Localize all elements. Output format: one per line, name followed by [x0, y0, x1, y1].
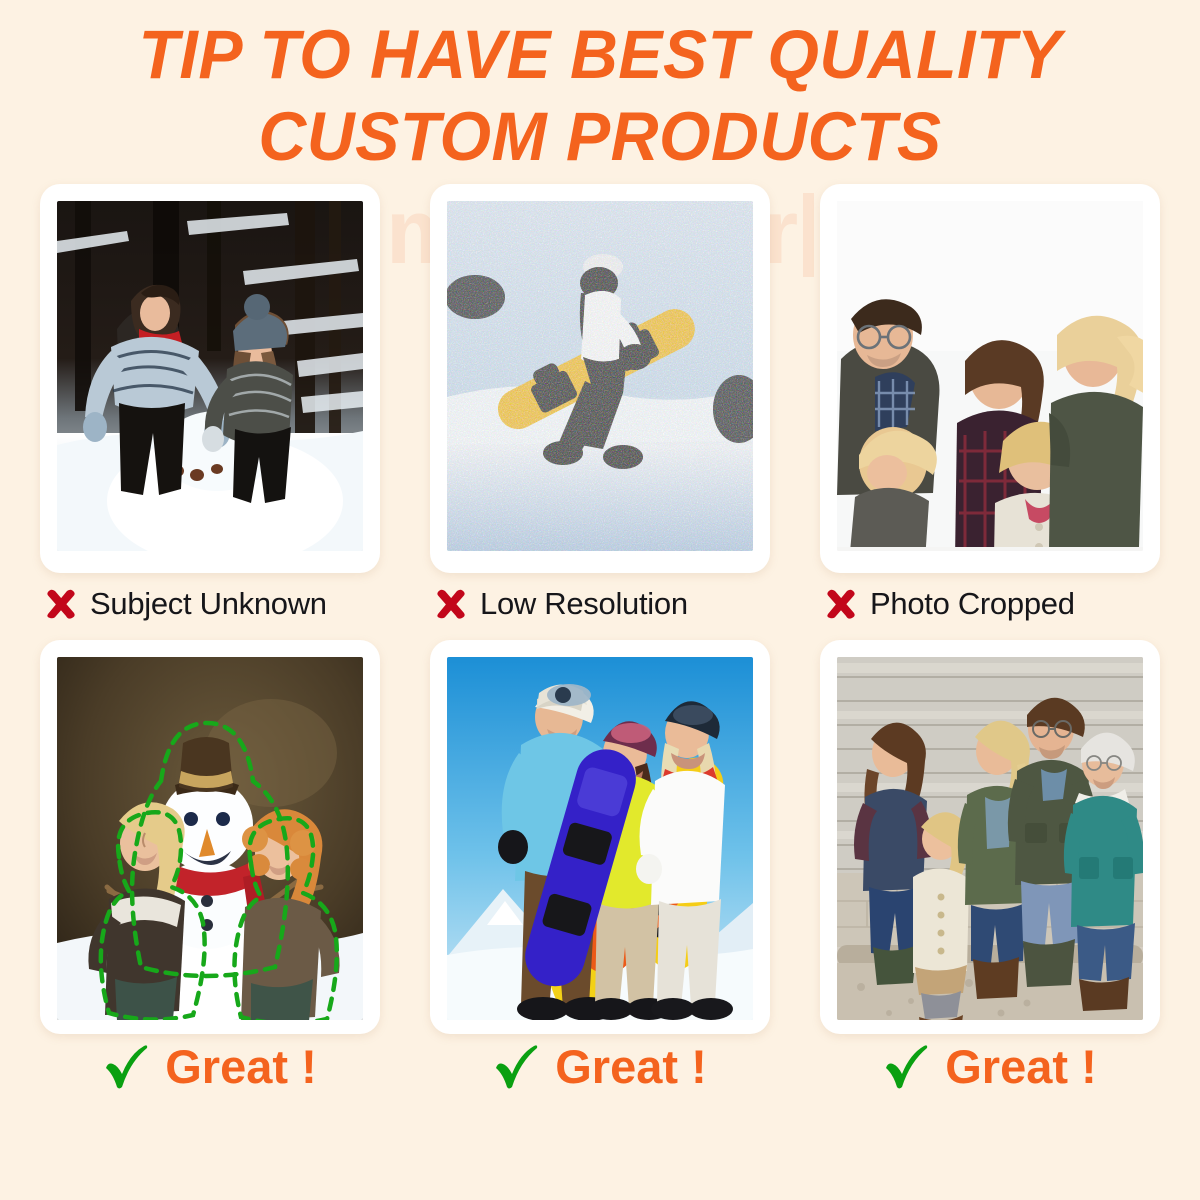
example-cell-photo-cropped: Photo Cropped: [820, 184, 1160, 622]
red-cross-icon: [434, 587, 468, 621]
example-cell-subject-unknown: Subject Unknown: [40, 184, 380, 622]
photo-card: [820, 184, 1160, 573]
example-label-text: Low Resolution: [480, 586, 688, 622]
example-label-great-snowman: Great !: [40, 1034, 380, 1092]
photo-three-snowboarders-on-sunny-mountain: [447, 657, 753, 1020]
example-label-text: Photo Cropped: [870, 586, 1075, 622]
page-title-line-2: CUSTOM PRODUCTS: [24, 104, 1176, 170]
bad-examples-row: Subject Unknown: [40, 184, 1160, 622]
page-title: TIP TO HAVE BEST QUALITY CUSTOM PRODUCTS: [24, 0, 1176, 169]
example-label-text: Great !: [945, 1043, 1097, 1090]
example-label-text: Subject Unknown: [90, 586, 327, 622]
example-cell-great-snowman: Great !: [40, 640, 380, 1092]
example-label-great-family: Great !: [820, 1034, 1160, 1092]
photo-card: [430, 640, 770, 1034]
photo-noisy-pixelated-snowboarder-carrying-yellow-board: [447, 201, 753, 551]
example-label-photo-cropped: Photo Cropped: [820, 573, 1160, 622]
green-check-icon: [103, 1044, 149, 1090]
photo-two-women-with-snowman-subjects-outlined-green-dashes: [57, 657, 363, 1020]
page-title-line-1: TIP TO HAVE BEST QUALITY: [24, 22, 1176, 88]
good-examples-row: Great !: [40, 640, 1160, 1092]
red-cross-icon: [824, 587, 858, 621]
photo-family-of-five-in-front-of-wooden-barn: [837, 657, 1143, 1020]
example-cell-great-snowboarders: Great !: [430, 640, 770, 1092]
example-cell-great-family: Great !: [820, 640, 1160, 1092]
green-check-icon: [883, 1044, 929, 1090]
red-cross-icon: [44, 587, 78, 621]
green-check-icon: [493, 1044, 539, 1090]
examples-grid: Subject Unknown: [0, 184, 1200, 1092]
photo-card: [40, 640, 380, 1034]
example-label-low-resolution: Low Resolution: [430, 573, 770, 622]
example-label-text: Great !: [555, 1043, 707, 1090]
photo-two-women-building-snowman-in-snowy-forest: [57, 201, 363, 551]
photo-card: [820, 640, 1160, 1034]
example-label-subject-unknown: Subject Unknown: [40, 573, 380, 622]
example-label-text: Great !: [165, 1043, 317, 1090]
photo-card: [40, 184, 380, 573]
photo-family-of-five-cropped-at-frame-edge: [837, 201, 1143, 551]
photo-card: [430, 184, 770, 573]
example-cell-low-resolution: Low Resolution: [430, 184, 770, 622]
example-label-great-snowboarders: Great !: [430, 1034, 770, 1092]
